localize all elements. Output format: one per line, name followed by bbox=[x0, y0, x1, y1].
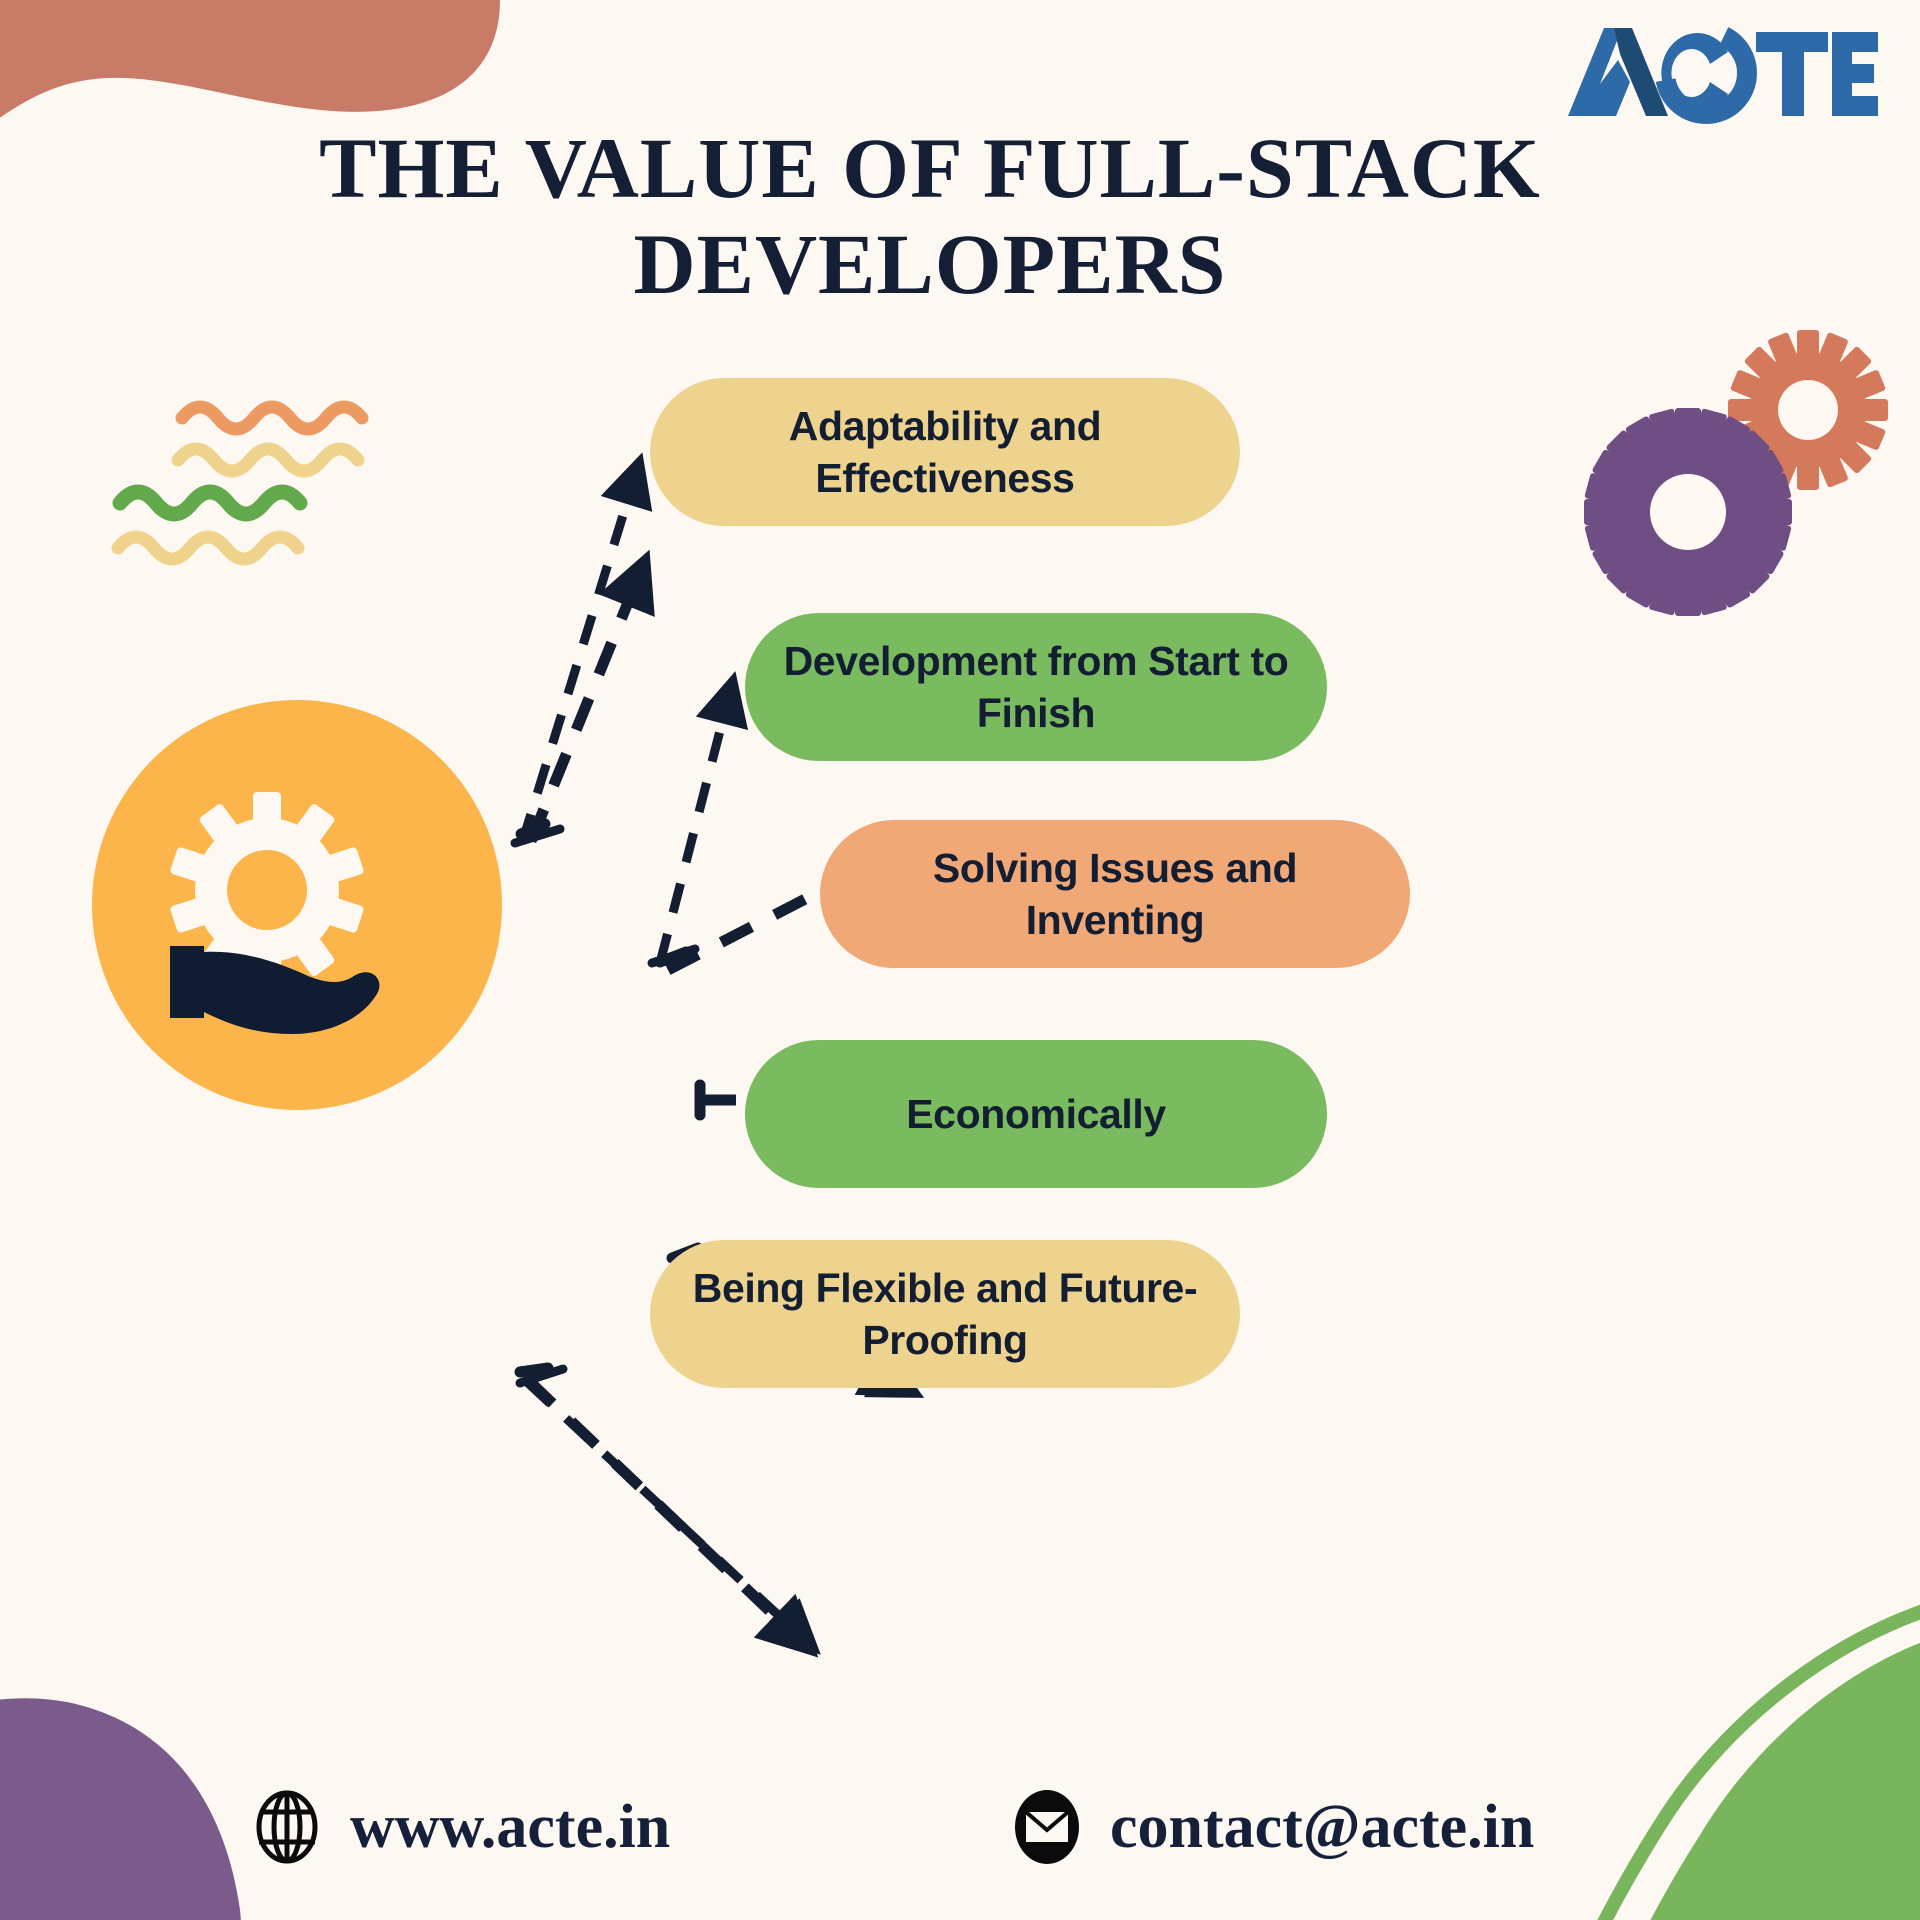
hand-holding-gear-icon bbox=[92, 700, 502, 1110]
globe-icon bbox=[250, 1790, 324, 1864]
arrow-1 bbox=[522, 473, 636, 843]
website-text: www.acte.in bbox=[350, 1792, 670, 1863]
infographic-canvas: THE VALUE OF FULL-STACK DEVELOPERS bbox=[0, 0, 1920, 1920]
value-item-development[interactable]: Development from Start to Finish bbox=[745, 613, 1327, 761]
value-item-economically[interactable]: Economically bbox=[745, 1040, 1327, 1188]
hub-circle bbox=[92, 700, 502, 1110]
value-item-solving-issues[interactable]: Solving Issues and Inventing bbox=[820, 820, 1410, 968]
website-contact[interactable]: www.acte.in bbox=[250, 1790, 670, 1864]
value-item-flexible[interactable]: Being Flexible and Future-Proofing bbox=[650, 1240, 1240, 1388]
footer: www.acte.in contact@acte.in bbox=[250, 1790, 1650, 1900]
email-text: contact@acte.in bbox=[1110, 1792, 1534, 1863]
value-item-adaptability[interactable]: Adaptability and Effectiveness bbox=[650, 378, 1240, 526]
arrow-2 bbox=[660, 692, 730, 963]
email-contact[interactable]: contact@acte.in bbox=[1010, 1790, 1534, 1864]
envelope-icon bbox=[1010, 1790, 1084, 1864]
arrow-5 bbox=[528, 1383, 805, 1640]
